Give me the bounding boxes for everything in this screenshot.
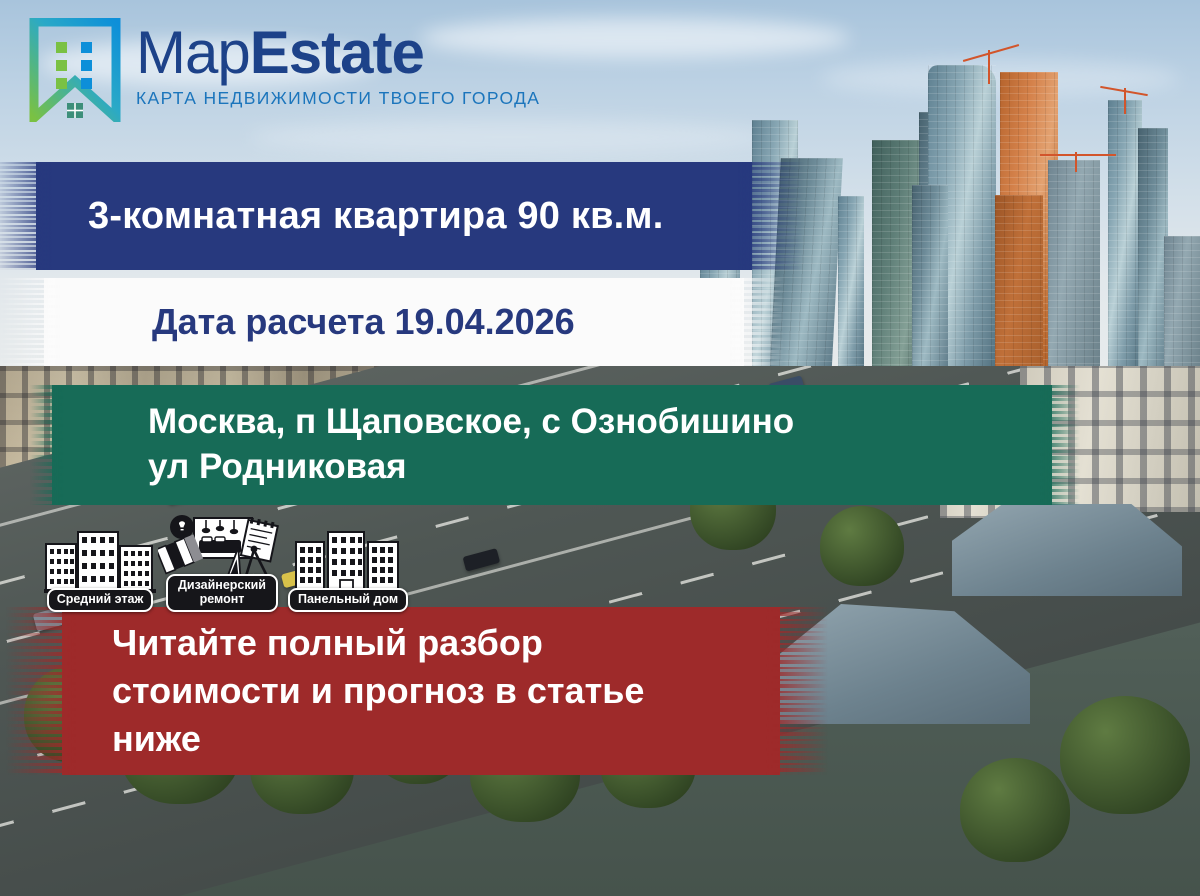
brush-edge-right — [738, 162, 804, 270]
brand-name: MapEstate — [136, 24, 540, 81]
cloud — [250, 120, 770, 154]
blue-roof — [952, 504, 1182, 596]
brand-tagline: КАРТА НЕДВИЖИМОСТИ ТВОЕГО ГОРОДА — [136, 88, 540, 109]
skyscraper — [838, 196, 864, 380]
brand-text: MapEstate КАРТА НЕДВИЖИМОСТИ ТВОЕГО ГОРО… — [136, 18, 540, 109]
brush-edge-right — [1040, 385, 1080, 505]
feature-badge-label: Панельный дом — [288, 588, 408, 613]
skyscraper — [912, 185, 948, 380]
feature-badge-designer-renovation[interactable]: Дизайнерский ремонт — [158, 514, 286, 612]
skyscraper — [1108, 100, 1142, 380]
headline-text: 3-комнатная квартира 90 кв.м. — [36, 195, 663, 238]
construction-crane — [988, 50, 990, 84]
brush-edge-right — [766, 607, 828, 775]
brand-name-part1: Map — [136, 19, 250, 86]
skyscraper — [1048, 160, 1100, 380]
brush-edge-right — [730, 278, 784, 366]
skyscraper — [1164, 236, 1200, 380]
feature-badge-label: Средний этаж — [47, 588, 154, 613]
brand-logo[interactable]: MapEstate КАРТА НЕДВИЖИМОСТИ ТВОЕГО ГОРО… — [28, 18, 540, 122]
designer-renovation-icon — [158, 514, 286, 580]
panel-apartment-block-icon — [292, 528, 404, 594]
headline-banner: 3-комнатная квартира 90 кв.м. — [36, 162, 752, 270]
cta-line-1: Читайте полный разбор — [62, 619, 543, 667]
skyscraper-orange — [995, 195, 1043, 380]
address-line-1: Москва, п Щаповское, с Ознобишино — [52, 400, 794, 445]
brand-name-part2: Estate — [250, 19, 424, 86]
tree — [960, 758, 1070, 862]
construction-crane-arm — [1040, 154, 1116, 156]
cta-line-3: ниже — [62, 715, 201, 763]
feature-badge-panel-house[interactable]: Панельный дом — [288, 528, 408, 613]
cta-line-2: стоимости и прогноз в статье — [62, 667, 644, 715]
tree — [820, 506, 904, 586]
promo-poster: MapEstate КАРТА НЕДВИЖИМОСТИ ТВОЕГО ГОРО… — [0, 0, 1200, 896]
feature-badge-mid-floor[interactable]: Средний этаж — [44, 528, 156, 613]
calculation-date-text: Дата расчета 19.04.2026 — [44, 301, 575, 343]
cta-banner[interactable]: Читайте полный разбор стоимости и прогно… — [62, 607, 780, 775]
calculation-date-banner: Дата расчета 19.04.2026 — [44, 278, 744, 366]
map-pin-building-icon — [28, 18, 122, 122]
feature-badge-label: Дизайнерский ремонт — [166, 574, 278, 612]
feature-badges: Средний этаж — [44, 514, 408, 612]
address-banner: Москва, п Щаповское, с Ознобишино ул Род… — [52, 385, 1052, 505]
mid-rise-buildings-icon — [44, 528, 156, 594]
tree — [1060, 696, 1190, 814]
address-line-2: ул Родниковая — [52, 445, 407, 490]
